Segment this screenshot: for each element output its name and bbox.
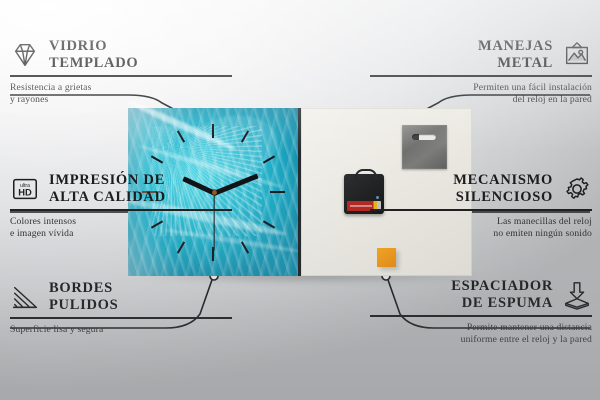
feature-subtitle: Colores intensos e imagen vívida bbox=[10, 216, 232, 241]
feature-title: IMPRESIÓN DE ALTA CALIDAD bbox=[49, 172, 166, 206]
feature-divider bbox=[10, 317, 232, 318]
feature-espaciador-espuma[interactable]: ESPACIADOR DE ESPUMA Permite mantener un… bbox=[370, 278, 592, 347]
foam-spacer bbox=[377, 248, 396, 267]
clock-tick bbox=[177, 241, 185, 253]
feature-subtitle: Resistencia a grietas y rayones bbox=[10, 82, 232, 107]
feature-title: MANEJAS METAL bbox=[478, 38, 553, 72]
feature-subtitle: Permite mantener una distancia uniforme … bbox=[370, 322, 592, 347]
infographic-canvas: VIDRIO TEMPLADO Resistencia a grietas y … bbox=[0, 0, 600, 400]
feature-header: MANEJAS METAL bbox=[370, 38, 592, 72]
metal-hanger-plate bbox=[402, 125, 447, 169]
feature-divider bbox=[370, 315, 592, 316]
svg-text:HD: HD bbox=[18, 188, 32, 198]
feature-title: MECANISMO SILENCIOSO bbox=[453, 172, 553, 206]
feature-subtitle: Permiten una fácil instalación del reloj… bbox=[370, 82, 592, 107]
feature-bordes-pulidos[interactable]: BORDES PULIDOS Superficie lisa y segura bbox=[10, 280, 232, 336]
feature-divider bbox=[370, 75, 592, 76]
feature-header: MECANISMO SILENCIOSO bbox=[370, 172, 592, 206]
hanger-keyhole-slot bbox=[412, 134, 436, 140]
feature-subtitle: Superficie lisa y segura bbox=[10, 324, 232, 337]
feature-divider bbox=[370, 209, 592, 210]
feature-header: ESPACIADOR DE ESPUMA bbox=[370, 278, 592, 312]
clock-tick bbox=[212, 124, 214, 138]
feature-vidrio-templado[interactable]: VIDRIO TEMPLADO Resistencia a grietas y … bbox=[10, 38, 232, 107]
feature-manejas-metal[interactable]: MANEJAS METAL Permiten una fácil instala… bbox=[370, 38, 592, 107]
feature-title: BORDES PULIDOS bbox=[49, 280, 118, 314]
feature-divider bbox=[10, 209, 232, 210]
feature-impresion-alta-calidad[interactable]: ultra HD IMPRESIÓN DE ALTA CALIDAD Color… bbox=[10, 172, 232, 241]
feature-title: VIDRIO TEMPLADO bbox=[49, 38, 138, 72]
feature-title: ESPACIADOR DE ESPUMA bbox=[451, 278, 553, 312]
diamond-icon bbox=[10, 40, 40, 70]
foam-spacer-icon bbox=[562, 280, 592, 310]
feature-header: VIDRIO TEMPLADO bbox=[10, 38, 232, 72]
feature-header: ultra HD IMPRESIÓN DE ALTA CALIDAD bbox=[10, 172, 232, 206]
clock-tick bbox=[270, 191, 285, 193]
feature-divider bbox=[10, 75, 232, 76]
polished-edge-icon bbox=[10, 282, 40, 312]
feature-mecanismo-silencioso[interactable]: MECANISMO SILENCIOSO Las manecillas del … bbox=[370, 172, 592, 241]
feature-header: BORDES PULIDOS bbox=[10, 280, 232, 314]
ultra-hd-icon: ultra HD bbox=[10, 174, 40, 204]
feature-subtitle: Las manecillas del reloj no emiten ningú… bbox=[370, 216, 592, 241]
hanging-frame-icon bbox=[562, 40, 592, 70]
gear-icon bbox=[562, 174, 592, 204]
